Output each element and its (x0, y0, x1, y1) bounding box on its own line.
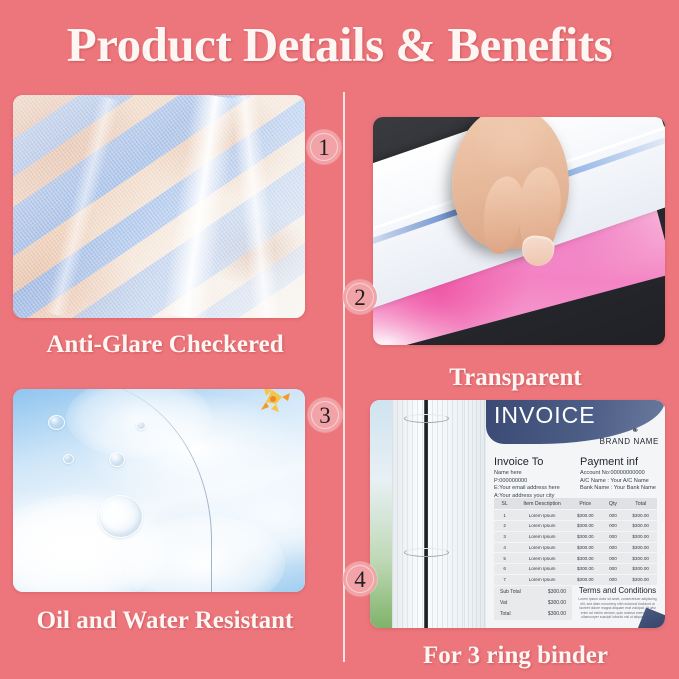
invoice-to-heading: Invoice To (494, 456, 543, 468)
payment-details: Account No:00000000000 A/C Name : Your A… (580, 470, 656, 493)
invoice-to-line-3: E:Your email address here (494, 485, 560, 493)
page-title: Product Details & Benefits (0, 14, 679, 76)
invoice-totals: Sub Total$300.00 Vat$300.00 Total$300.00 (494, 586, 572, 620)
binder-ring-top (404, 414, 449, 423)
payment-line-2: A/C Name : Your A/C Name (580, 478, 656, 486)
feature-image-three-ring-binder: INVOICE ⚭ BRAND NAME Invoice To Name her… (370, 400, 665, 628)
table-body: 1Lorem Ipsum$300.00000$300.00 2Lorem Ips… (494, 510, 657, 585)
payment-line-3: Bank Name : Your Bank Name (580, 485, 656, 493)
table-row: 5Lorem Ipsum$300.00000$300.00 (494, 553, 657, 564)
terms-heading: Terms and Conditions (578, 586, 657, 595)
col-sl: SL (494, 498, 515, 510)
step-badge-4: 4 (343, 562, 377, 596)
feature-caption-4: For 3 ring binder (352, 641, 679, 671)
step-number-4: 4 (354, 568, 366, 591)
col-qty: Qty (602, 498, 625, 510)
invoice-to-line-1: Name here (494, 470, 560, 478)
step-badge-3: 3 (308, 398, 342, 432)
invoice-document: INVOICE ⚭ BRAND NAME Invoice To Name her… (486, 400, 665, 628)
col-price: Price (569, 498, 602, 510)
brand-logo-icon: ⚭ (631, 425, 639, 436)
feature-image-oil-water-resistant (13, 389, 305, 592)
table-row: 7Lorem Ipsum$300.00000$300.00 (494, 574, 657, 585)
binder-cover-photo (370, 400, 392, 628)
feature-image-transparent (373, 117, 665, 345)
step-number-1: 1 (318, 136, 330, 159)
table-row: 6Lorem Ipsum$300.00000$300.00 (494, 564, 657, 575)
binder-ring-bottom (404, 548, 449, 557)
payment-line-1: Account No:00000000000 (580, 470, 656, 478)
binder-spine (424, 400, 428, 628)
total-row-subtotal: Sub Total$300.00 (494, 586, 572, 597)
col-item: Item Description (515, 498, 569, 510)
product-details-poster: Product Details & Benefits 1 Anti-Glare … (0, 0, 679, 679)
feature-caption-2: Transparent (352, 363, 679, 393)
payment-heading: Payment inf (580, 456, 638, 468)
feature-caption-3: Oil and Water Resistant (0, 606, 330, 636)
invoice-to-details: Name here P:000000000 E:Your email addre… (494, 470, 560, 500)
brand-name: BRAND NAME (600, 437, 659, 446)
invoice-to-line-2: P:000000000 (494, 478, 560, 486)
feature-caption-1: Anti-Glare Checkered (0, 330, 330, 360)
table-row: 4Lorem Ipsum$300.00000$300.00 (494, 542, 657, 553)
feature-image-anti-glare-checkered (13, 95, 305, 318)
total-row-total: Total$300.00 (494, 608, 572, 619)
sheet-protector-sleeve (392, 400, 464, 628)
table-header-row: SL Item Description Price Qty Total (494, 498, 657, 510)
table-row: 3Lorem Ipsum$300.00000$300.00 (494, 531, 657, 542)
col-total: Total (624, 498, 657, 510)
step-badge-2: 2 (343, 280, 377, 314)
table-row: 1Lorem Ipsum$300.00000$300.00 (494, 510, 657, 521)
total-row-vat: Vat$300.00 (494, 597, 572, 608)
step-number-3: 3 (319, 404, 331, 427)
kite-icon (252, 389, 292, 421)
table-row: 2Lorem Ipsum$300.00000$300.00 (494, 520, 657, 531)
step-number-2: 2 (354, 286, 366, 309)
sheet-protector-edge (464, 400, 486, 628)
invoice-line-items-table: SL Item Description Price Qty Total 1Lor… (494, 498, 657, 586)
invoice-title: INVOICE (494, 402, 596, 429)
step-badge-1: 1 (307, 130, 341, 164)
